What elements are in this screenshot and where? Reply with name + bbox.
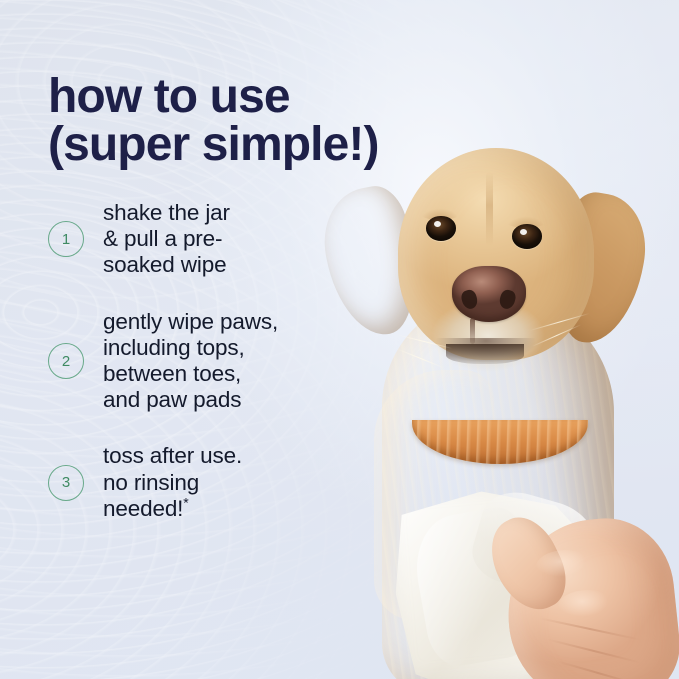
page-title: how to use (super simple!) (48, 73, 518, 168)
step-text-1: shake the jar & pull a pre- soaked wipe (103, 200, 230, 279)
dog-lip (446, 344, 524, 364)
step-item-2: 2 gently wipe paws, including tops, betw… (48, 309, 318, 414)
hand-knuckle (558, 590, 618, 624)
step-text-2: gently wipe paws, including tops, betwee… (103, 309, 278, 414)
step-item-1: 1 shake the jar & pull a pre- soaked wip… (48, 200, 318, 279)
eye-highlight (434, 221, 441, 227)
step-number-badge-1: 1 (48, 221, 84, 257)
step-text-3-body: toss after use. no rinsing needed! (103, 443, 242, 520)
step-number-badge-3: 3 (48, 465, 84, 501)
dog-eye-left (426, 216, 456, 241)
step-text-3: toss after use. no rinsing needed!* (103, 443, 242, 522)
step-item-3: 3 toss after use. no rinsing needed!* (48, 443, 318, 522)
steps-list: 1 shake the jar & pull a pre- soaked wip… (48, 200, 318, 522)
dog-nostril-right (498, 288, 518, 310)
footnote-asterisk: * (183, 494, 188, 510)
dog-nostril-left (460, 288, 480, 310)
how-to-use-poster: how to use (super simple!) 1 shake the j… (0, 0, 679, 679)
dog-nose (452, 266, 526, 322)
product-photo (300, 120, 679, 679)
hand-knuckle (536, 550, 596, 584)
eye-highlight (520, 229, 527, 235)
dog-eye-right (512, 224, 542, 249)
dog-forehead-crease (486, 172, 493, 246)
step-number-badge-2: 2 (48, 343, 84, 379)
